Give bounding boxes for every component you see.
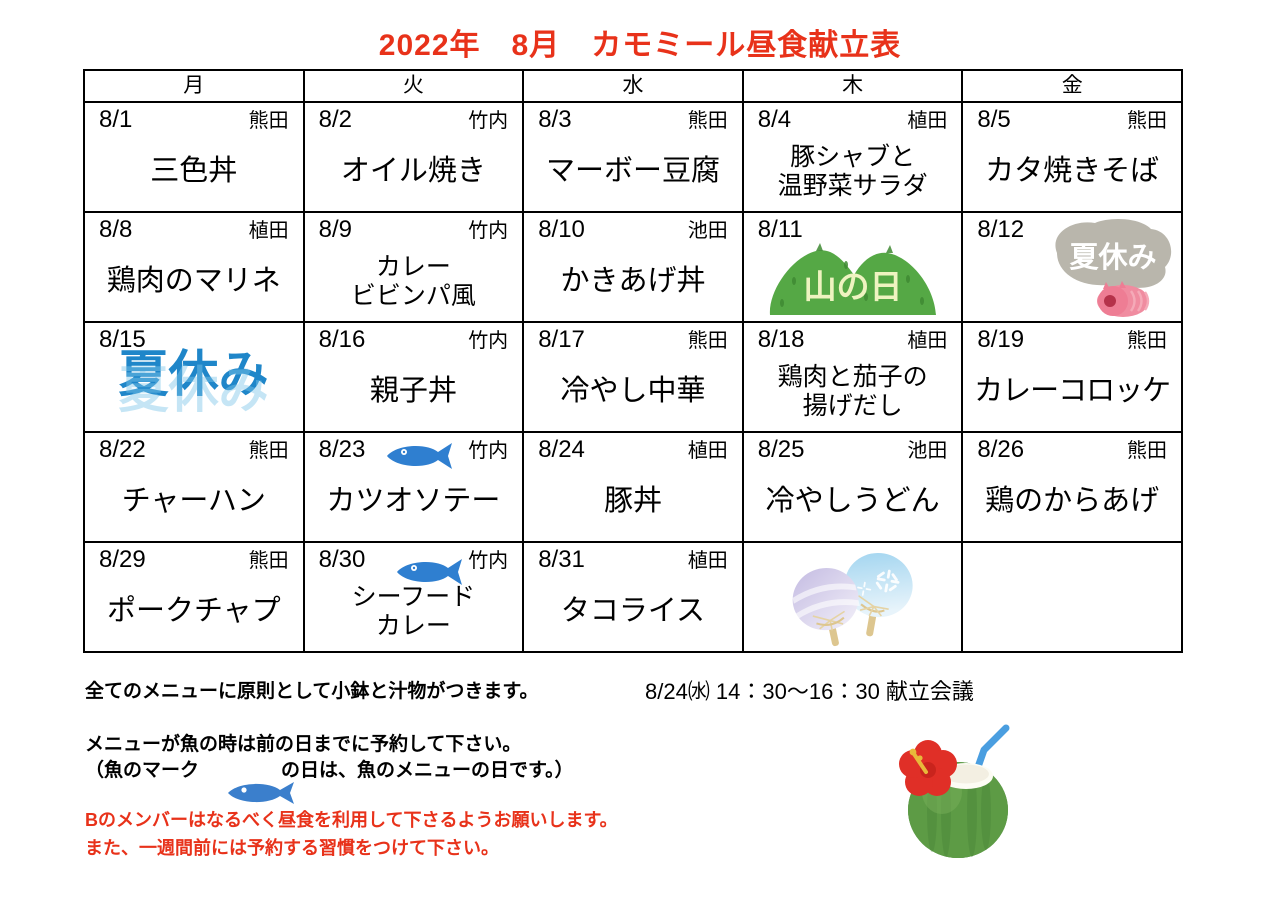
day-cell-header: 8/16竹内 (305, 323, 523, 357)
day-cell-staff: 池田 (907, 436, 947, 466)
day-cell-header (963, 543, 1181, 577)
day-cell-8-23[interactable]: 8/23竹内カツオソテー (304, 432, 524, 542)
day-cell-menu: マーボー豆腐 (524, 135, 742, 209)
day-cell-8-1[interactable]: 8/1熊田三色丼 (84, 102, 304, 212)
day-cell-staff: 熊田 (249, 106, 289, 136)
day-header-fri: 金 (962, 70, 1182, 102)
day-cell-staff: 竹内 (468, 436, 508, 466)
day-cell-date: 8/16 (319, 325, 366, 355)
day-cell-menu: カレーコロッケ (963, 355, 1181, 429)
day-cell-header: 8/24植田 (524, 433, 742, 467)
day-cell-staff: 池田 (688, 216, 728, 246)
day-cell-8-3[interactable]: 8/3熊田マーボー豆腐 (523, 102, 743, 212)
day-cell-menu: 冷やしうどん (744, 465, 962, 539)
day-cell-header: 8/23竹内 (305, 433, 523, 467)
day-cell-staff: 竹内 (468, 326, 508, 356)
day-cell-header: 8/5熊田 (963, 103, 1181, 137)
day-cell-header: 8/8植田 (85, 213, 303, 247)
day-cell-content: 8/5熊田カタ焼きそば (963, 103, 1181, 211)
day-cell-menu: 豚丼 (524, 465, 742, 539)
day-cell-8-2[interactable]: 8/2竹内オイル焼き (304, 102, 524, 212)
day-cell-content: 8/4植田豚シャブと 温野菜サラダ (744, 103, 962, 211)
note-fish-reservation: メニューが魚の時は前の日までに予約して下さい。 (85, 729, 521, 756)
day-cell-date: 8/29 (99, 545, 146, 575)
day-cell-8-29[interactable]: 8/29熊田ポークチャプ (84, 542, 304, 652)
day-cell-content (963, 543, 1181, 651)
day-cell-menu: 鶏肉と茄子の 揚げだし (744, 355, 962, 429)
day-cell-header: 8/31植田 (524, 543, 742, 577)
day-cell-staff: 植田 (907, 106, 947, 136)
day-cell-header: 8/26熊田 (963, 433, 1181, 467)
day-cell-content: 8/31植田タコライス (524, 543, 742, 651)
day-cell-8-22[interactable]: 8/22熊田チャーハン (84, 432, 304, 542)
day-cell-header: 8/30竹内 (305, 543, 523, 577)
day-cell-menu (85, 355, 303, 429)
day-cell-staff: 熊田 (688, 326, 728, 356)
day-cell-menu: 三色丼 (85, 135, 303, 209)
day-cell-content: 8/1熊田三色丼 (85, 103, 303, 211)
day-cell-staff: 竹内 (468, 546, 508, 576)
day-cell-date: 8/30 (319, 545, 366, 575)
day-cell-menu: カタ焼きそば (963, 135, 1181, 209)
day-cell-menu: チャーハン (85, 465, 303, 539)
day-header-mon: 月 (84, 70, 304, 102)
day-cell-date: 8/3 (538, 105, 571, 135)
day-cell-content: 8/18植田鶏肉と茄子の 揚げだし (744, 323, 962, 431)
day-cell-staff: 熊田 (249, 546, 289, 576)
day-cell-8-30[interactable]: 8/30竹内シーフード カレー (304, 542, 524, 652)
day-cell-staff: 植田 (907, 326, 947, 356)
note-b-member-line1: Bのメンバーはなるべく昼食を利用して下さるようお願いします。 (85, 806, 618, 832)
day-cell-date: 8/22 (99, 435, 146, 465)
day-cell-content: 8/3熊田マーボー豆腐 (524, 103, 742, 211)
day-cell-date: 8/15 (99, 325, 146, 355)
day-cell-content: 8/25池田冷やしうどん (744, 433, 962, 541)
calendar-week-row: 8/22熊田チャーハン8/23竹内カツオソテー8/24植田豚丼8/25池田冷やし… (84, 432, 1182, 542)
day-cell-header: 8/22熊田 (85, 433, 303, 467)
day-cell-staff: 熊田 (1127, 106, 1167, 136)
day-cell-date: 8/5 (977, 105, 1010, 135)
day-cell-staff: 熊田 (1127, 326, 1167, 356)
day-cell-menu: 鶏のからあげ (963, 465, 1181, 539)
day-cell-date: 8/17 (538, 325, 585, 355)
day-cell-content: 8/29熊田ポークチャプ (85, 543, 303, 651)
calendar-header-row: 月 火 水 木 金 (84, 70, 1182, 102)
day-cell-content: 8/30竹内シーフード カレー (305, 543, 523, 651)
day-cell-8-15[interactable]: 8/15夏休み夏休み (84, 322, 304, 432)
day-cell-date: 8/19 (977, 325, 1024, 355)
day-cell-8-16[interactable]: 8/16竹内親子丼 (304, 322, 524, 432)
day-cell-content (744, 543, 962, 651)
note-menu-meeting: 8/24㈬ 14：30〜16：30 献立会議 (645, 674, 974, 706)
day-cell-8-10[interactable]: 8/10池田かきあげ丼 (523, 212, 743, 322)
calendar-week-row: 8/8植田鶏肉のマリネ8/9竹内カレー ビビンパ風8/10池田かきあげ丼8/11… (84, 212, 1182, 322)
day-cell-date: 8/31 (538, 545, 585, 575)
day-cell-menu (744, 575, 962, 649)
day-cell-8-5[interactable]: 8/5熊田カタ焼きそば (962, 102, 1182, 212)
day-cell-header: 8/11 (744, 213, 962, 247)
day-cell-date: 8/10 (538, 215, 585, 245)
day-cell-content: 8/9竹内カレー ビビンパ風 (305, 213, 523, 321)
day-cell-staff: 熊田 (249, 436, 289, 466)
day-cell-8-4[interactable]: 8/4植田豚シャブと 温野菜サラダ (743, 102, 963, 212)
note-fish-mark-suffix: の日は、魚のメニューの日です。） (281, 755, 574, 782)
day-cell-staff: 竹内 (468, 106, 508, 136)
day-header-thu: 木 (743, 70, 963, 102)
day-cell-content: 8/24植田豚丼 (524, 433, 742, 541)
calendar-week-row: 8/1熊田三色丼8/2竹内オイル焼き8/3熊田マーボー豆腐8/4植田豚シャブと … (84, 102, 1182, 212)
day-cell-8-31[interactable]: 8/31植田タコライス (523, 542, 743, 652)
day-cell-content: 8/16竹内親子丼 (305, 323, 523, 431)
day-cell-8-12[interactable]: 8/12夏休み (962, 212, 1182, 322)
day-cell-header: 8/29熊田 (85, 543, 303, 577)
day-cell-date: 8/2 (319, 105, 352, 135)
day-cell-header: 8/12 (963, 213, 1181, 247)
note-fish-mark-prefix: （魚のマーク (85, 755, 199, 782)
day-cell-content: 8/11山の日 (744, 213, 962, 321)
calendar-week-row: 8/15夏休み夏休み8/16竹内親子丼8/17熊田冷やし中華8/18植田鶏肉と茄… (84, 322, 1182, 432)
day-cell-header: 8/19熊田 (963, 323, 1181, 357)
day-cell-8-8[interactable]: 8/8植田鶏肉のマリネ (84, 212, 304, 322)
day-cell-8-17[interactable]: 8/17熊田冷やし中華 (523, 322, 743, 432)
day-cell-date: 8/23 (319, 435, 366, 465)
day-cell-date: 8/8 (99, 215, 132, 245)
day-cell-date: 8/4 (758, 105, 791, 135)
day-cell-8-11[interactable]: 8/11山の日 (743, 212, 963, 322)
day-cell-8-25[interactable]: 8/25池田冷やしうどん (743, 432, 963, 542)
day-cell-date: 8/24 (538, 435, 585, 465)
day-cell-8-26[interactable]: 8/26熊田鶏のからあげ (962, 432, 1182, 542)
day-cell-header (744, 543, 962, 577)
day-cell-content: 8/10池田かきあげ丼 (524, 213, 742, 321)
day-cell-date: 8/1 (99, 105, 132, 135)
day-cell-date: 8/9 (319, 215, 352, 245)
note-b-member-line2: また、一週間前には予約する習慣をつけて下さい。 (85, 834, 499, 860)
day-cell-menu (744, 245, 962, 319)
day-cell-staff: 植田 (688, 546, 728, 576)
day-cell-staff: 熊田 (688, 106, 728, 136)
day-cell-8-9[interactable]: 8/9竹内カレー ビビンパ風 (304, 212, 524, 322)
calendar-body: 8/1熊田三色丼8/2竹内オイル焼き8/3熊田マーボー豆腐8/4植田豚シャブと … (84, 102, 1182, 652)
day-cell-menu: カツオソテー (305, 465, 523, 539)
day-cell-empty-4-4[interactable] (962, 542, 1182, 652)
day-cell-content: 8/22熊田チャーハン (85, 433, 303, 541)
menu-calendar-table: 月 火 水 木 金 8/1熊田三色丼8/2竹内オイル焼き8/3熊田マーボー豆腐8… (83, 69, 1183, 653)
page-title: 2022年 8月 カモミール昼食献立表 (0, 20, 1280, 64)
day-cell-8-18[interactable]: 8/18植田鶏肉と茄子の 揚げだし (743, 322, 963, 432)
day-cell-content: 8/17熊田冷やし中華 (524, 323, 742, 431)
day-cell-menu (963, 575, 1181, 649)
day-cell-header: 8/3熊田 (524, 103, 742, 137)
coconut-drink-illustration (880, 722, 1040, 872)
day-cell-menu: 冷やし中華 (524, 355, 742, 429)
day-cell-header: 8/15 (85, 323, 303, 357)
note-side-dish: 全てのメニューに原則として小鉢と汁物がつきます。 (85, 676, 539, 703)
day-cell-content: 8/26熊田鶏のからあげ (963, 433, 1181, 541)
day-cell-8-19[interactable]: 8/19熊田カレーコロッケ (962, 322, 1182, 432)
day-cell-menu: 鶏肉のマリネ (85, 245, 303, 319)
calendar-week-row: 8/29熊田ポークチャプ8/30竹内シーフード カレー8/31植田タコライス (84, 542, 1182, 652)
day-cell-date: 8/12 (977, 215, 1024, 245)
day-cell-header: 8/9竹内 (305, 213, 523, 247)
day-cell-8-24[interactable]: 8/24植田豚丼 (523, 432, 743, 542)
day-cell-header: 8/2竹内 (305, 103, 523, 137)
day-cell-header: 8/4植田 (744, 103, 962, 137)
day-cell-menu: オイル焼き (305, 135, 523, 209)
day-header-tue: 火 (304, 70, 524, 102)
day-cell-header: 8/17熊田 (524, 323, 742, 357)
day-cell-header: 8/1熊田 (85, 103, 303, 137)
day-cell-menu (963, 245, 1181, 319)
day-cell-header: 8/10池田 (524, 213, 742, 247)
day-cell-menu: 親子丼 (305, 355, 523, 429)
day-cell-menu: カレー ビビンパ風 (305, 245, 523, 319)
day-cell-header: 8/18植田 (744, 323, 962, 357)
day-cell-menu: タコライス (524, 575, 742, 649)
day-cell-menu: 豚シャブと 温野菜サラダ (744, 135, 962, 209)
day-cell-date: 8/18 (758, 325, 805, 355)
day-cell-header: 8/25池田 (744, 433, 962, 467)
day-header-wed: 水 (523, 70, 743, 102)
day-cell-menu: ポークチャプ (85, 575, 303, 649)
fish-icon (203, 759, 277, 783)
day-cell-staff: 植田 (249, 216, 289, 246)
note-fish-mark-legend: （魚のマーク の日は、魚のメニューの日です。） (85, 755, 574, 782)
day-cell-menu: かきあげ丼 (524, 245, 742, 319)
day-cell-date: 8/25 (758, 435, 805, 465)
day-cell-content: 8/23竹内カツオソテー (305, 433, 523, 541)
day-cell-menu: シーフード カレー (305, 575, 523, 649)
day-cell-empty-4-3[interactable] (743, 542, 963, 652)
day-cell-date: 8/11 (758, 215, 803, 245)
day-cell-content: 8/15夏休み夏休み (85, 323, 303, 431)
day-cell-content: 8/19熊田カレーコロッケ (963, 323, 1181, 431)
day-cell-staff: 植田 (688, 436, 728, 466)
day-cell-content: 8/2竹内オイル焼き (305, 103, 523, 211)
day-cell-staff: 竹内 (468, 216, 508, 246)
day-cell-content: 8/8植田鶏肉のマリネ (85, 213, 303, 321)
day-cell-content: 8/12夏休み (963, 213, 1181, 321)
day-cell-date: 8/26 (977, 435, 1024, 465)
day-cell-staff: 熊田 (1127, 436, 1167, 466)
